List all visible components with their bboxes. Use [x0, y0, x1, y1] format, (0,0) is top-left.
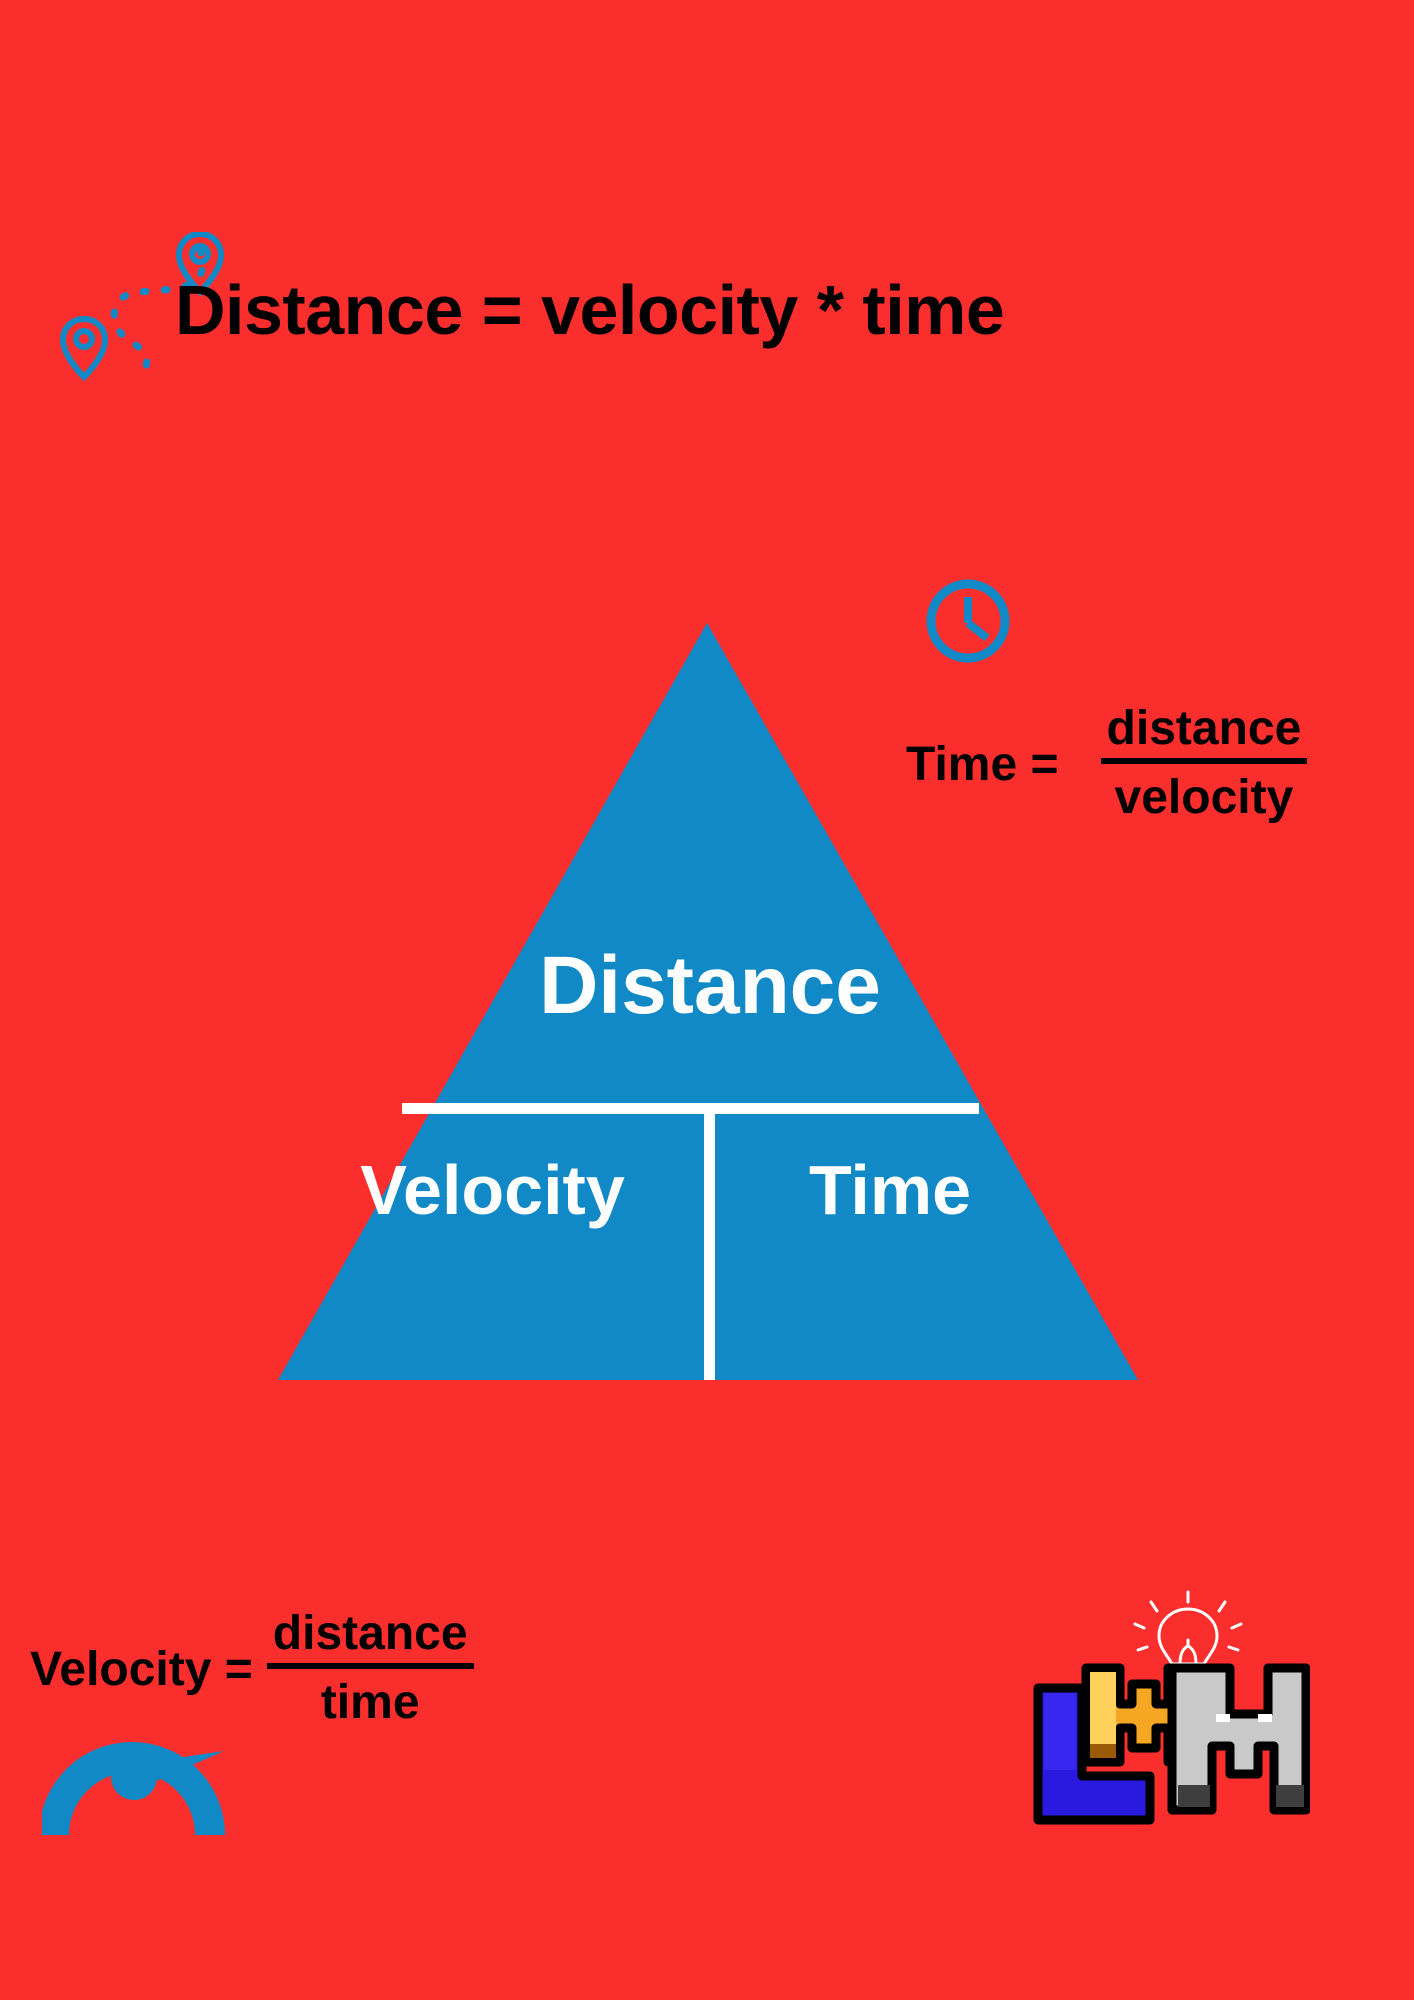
- velocity-formula-lhs: Velocity =: [30, 1642, 253, 1698]
- logo-letter-m: [1172, 1668, 1306, 1810]
- lwm-logo: [1020, 1580, 1310, 1835]
- velocity-formula-fraction: distancetime: [267, 1605, 474, 1735]
- velocity-formula-numerator: distance: [267, 1605, 474, 1669]
- speedometer-icon: [42, 1695, 242, 1840]
- triangle-label-time: Time: [725, 1150, 1055, 1230]
- triangle-label-velocity: Velocity: [270, 1150, 715, 1230]
- triangle-vertical-divider: [704, 1107, 715, 1380]
- map-pin-icon: [63, 319, 105, 377]
- dvt-triangle: Distance Velocity Time: [270, 615, 1150, 1390]
- velocity-formula-denominator: time: [267, 1669, 474, 1735]
- poster-canvas: Distance = velocity * time Time =distanc…: [0, 0, 1414, 2000]
- triangle-horizontal-divider: [402, 1103, 979, 1114]
- triangle-label-distance: Distance: [270, 940, 1150, 1032]
- page-title: Distance = velocity * time: [175, 268, 995, 352]
